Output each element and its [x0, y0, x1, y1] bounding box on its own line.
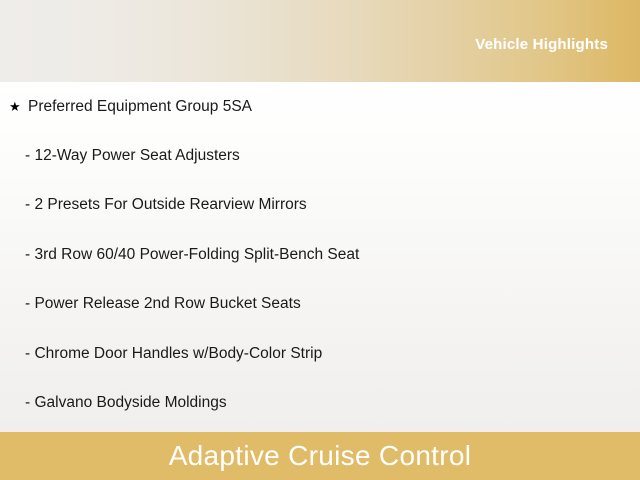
- header-title: Vehicle Highlights: [475, 36, 608, 53]
- feature-item-label: - 3rd Row 60/40 Power-Folding Split-Benc…: [25, 246, 359, 264]
- feature-list-item: - Chrome Door Handles w/Body-Color Strip: [0, 329, 640, 378]
- feature-list-item: ★Preferred Equipment Group 5SA: [0, 82, 640, 131]
- feature-item-label: - Galvano Bodyside Moldings: [25, 394, 227, 412]
- feature-list-item: - 3rd Row 60/40 Power-Folding Split-Benc…: [0, 230, 640, 279]
- feature-list-item: - Galvano Bodyside Moldings: [0, 378, 640, 427]
- star-bullet-icon: ★: [9, 100, 28, 113]
- slide-header: Vehicle Highlights: [0, 0, 640, 82]
- slide-footer: Adaptive Cruise Control: [0, 432, 640, 480]
- slide-content: ★Preferred Equipment Group 5SA- 12-Way P…: [0, 82, 640, 432]
- feature-item-label: Preferred Equipment Group 5SA: [28, 98, 252, 116]
- feature-list-item: - 12-Way Power Seat Adjusters: [0, 131, 640, 180]
- footer-title: Adaptive Cruise Control: [169, 442, 472, 470]
- feature-item-label: - Power Release 2nd Row Bucket Seats: [25, 295, 301, 313]
- feature-list-item: - Power Release 2nd Row Bucket Seats: [0, 280, 640, 329]
- feature-item-label: - Chrome Door Handles w/Body-Color Strip: [25, 345, 322, 363]
- feature-list: ★Preferred Equipment Group 5SA- 12-Way P…: [0, 82, 640, 428]
- feature-item-label: - 12-Way Power Seat Adjusters: [25, 147, 240, 165]
- feature-list-item: - 2 Presets For Outside Rearview Mirrors: [0, 181, 640, 230]
- feature-item-label: - 2 Presets For Outside Rearview Mirrors: [25, 196, 307, 214]
- slide-root: Vehicle Highlights ★Preferred Equipment …: [0, 0, 640, 480]
